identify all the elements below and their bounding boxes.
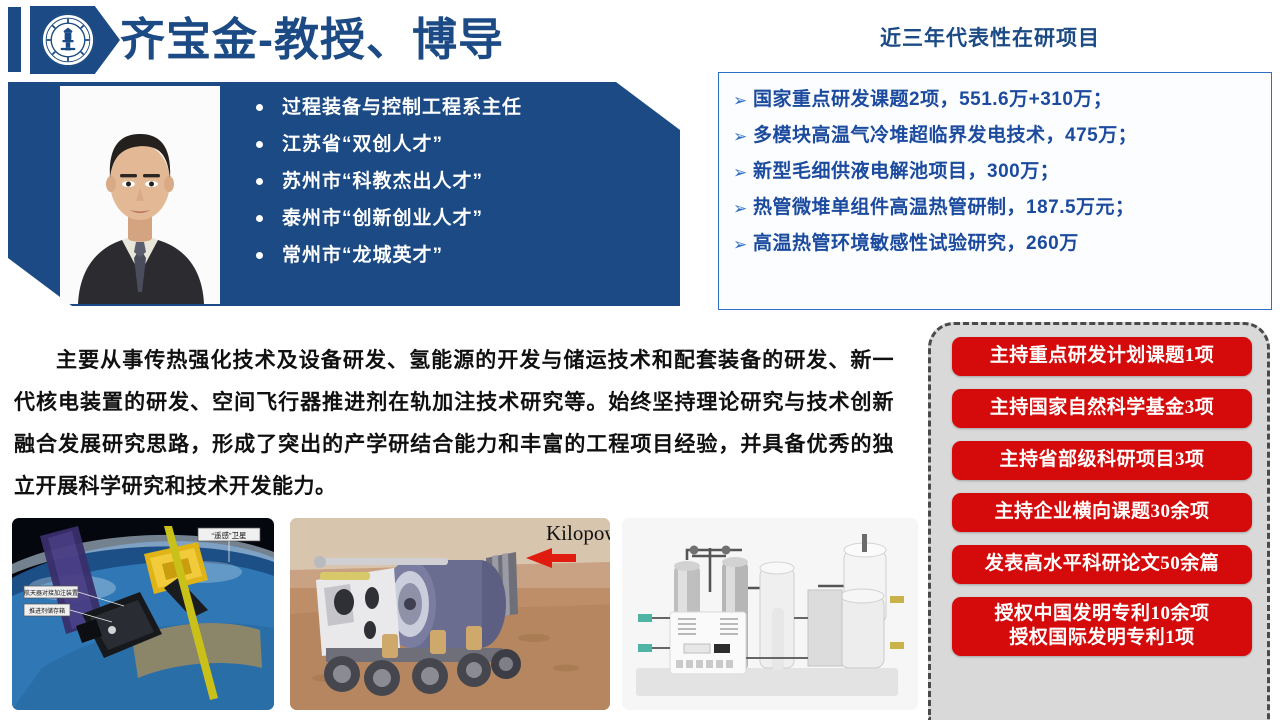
slide-root: 1896 齐宝金-教授、博导 近三年代表性在研项目 xyxy=(0,0,1280,720)
credential-label: 江苏省“双创人才” xyxy=(282,134,443,155)
equipment-illustration xyxy=(622,518,918,710)
mars-rover-kilopower-image: Kilopower xyxy=(290,518,610,710)
badge-line-1: 授权中国发明专利10余项 xyxy=(994,603,1209,624)
status-badge: 主持省部级科研项目3项 xyxy=(952,441,1252,480)
list-item: 江苏省“双创人才” xyxy=(252,133,652,156)
list-item: ➢国家重点研发课题2项，551.6万+310万； xyxy=(733,89,1271,111)
status-badge: 主持企业横向课题30余项 xyxy=(952,493,1252,532)
list-item: ➢多模块高温气冷堆超临界发电技术，475万； xyxy=(733,125,1271,147)
rover-illustration: Kilopower xyxy=(290,518,610,710)
status-badge: 授权中国发明专利10余项 授权国际发明专利1项 xyxy=(952,597,1252,656)
logo-shield-shape: 1896 xyxy=(30,6,120,74)
satellite-illustration: “遥感”卫星 航天器对接加注装置 推进剂储存箱 xyxy=(12,518,274,710)
svg-text:推进剂储存箱: 推进剂储存箱 xyxy=(29,607,65,615)
status-badge: 发表高水平科研论文50余篇 xyxy=(952,545,1252,584)
badge-line-2: 授权国际发明专利1项 xyxy=(952,626,1252,650)
list-item: ➢热管微堆单组件高温热管研制，187.5万元； xyxy=(733,197,1271,219)
bullet-dot-icon xyxy=(256,178,263,185)
satellite-refueling-image: “遥感”卫星 航天器对接加注装置 推进剂储存箱 xyxy=(12,518,274,710)
header-accent-bar xyxy=(8,7,21,72)
svg-text:航天器对接加注装置: 航天器对接加注装置 xyxy=(24,589,78,597)
projects-list: ➢国家重点研发课题2项，551.6万+310万； ➢多模块高温气冷堆超临界发电技… xyxy=(719,73,1271,255)
arrow-bullet-icon: ➢ xyxy=(733,234,748,256)
list-item: ➢高温热管环境敏感性试验研究，260万 xyxy=(733,233,1271,255)
credential-label: 过程装备与控制工程系主任 xyxy=(282,97,522,118)
project-label: 多模块高温气冷堆超临界发电技术，475万； xyxy=(753,125,1137,146)
avatar xyxy=(60,86,220,304)
slide-header: 1896 齐宝金-教授、博导 近三年代表性在研项目 xyxy=(0,0,1280,80)
bullet-dot-icon xyxy=(256,215,263,222)
status-badge: 主持国家自然科学基金3项 xyxy=(952,389,1252,428)
credentials-list: 过程装备与控制工程系主任 江苏省“双创人才” 苏州市“科教杰出人才” 泰州市“创… xyxy=(252,96,652,281)
arrow-bullet-icon: ➢ xyxy=(733,162,748,184)
svg-text:“遥感”卫星: “遥感”卫星 xyxy=(212,530,247,540)
biography-paragraph: 主要从事传热强化技术及设备研发、氢能源的开发与储运技术和配套装备的研发、新一代核… xyxy=(14,340,894,508)
bullet-dot-icon xyxy=(256,252,263,259)
projects-panel: ➢国家重点研发课题2项，551.6万+310万； ➢多模块高温气冷堆超临界发电技… xyxy=(718,72,1272,310)
svg-text:Kilopower: Kilopower xyxy=(546,521,610,545)
project-label: 新型毛细供液电解池项目，300万； xyxy=(753,161,1059,182)
achievements-list: 主持重点研发计划课题1项 主持国家自然科学基金3项 主持省部级科研项目3项 主持… xyxy=(931,325,1273,669)
projects-section-heading: 近三年代表性在研项目 xyxy=(700,22,1280,52)
credential-label: 常州市“龙城英才” xyxy=(282,245,443,266)
achievements-panel: 主持重点研发计划课题1项 主持国家自然科学基金3项 主持省部级科研项目3项 主持… xyxy=(928,322,1270,720)
arrow-bullet-icon: ➢ xyxy=(733,90,748,112)
list-item: 苏州市“科教杰出人才” xyxy=(252,170,652,193)
list-item: 泰州市“创新创业人才” xyxy=(252,207,652,230)
figure-strip: “遥感”卫星 航天器对接加注装置 推进剂储存箱 xyxy=(12,518,917,710)
credential-label: 苏州市“科教杰出人才” xyxy=(282,171,483,192)
page-title: 齐宝金-教授、博导 xyxy=(120,8,504,72)
svg-text:1896: 1896 xyxy=(65,49,71,52)
list-item: 常州市“龙城英才” xyxy=(252,244,652,267)
university-seal-icon: 1896 xyxy=(40,12,96,68)
project-label: 国家重点研发课题2项，551.6万+310万； xyxy=(753,89,1112,110)
list-item: 过程装备与控制工程系主任 xyxy=(252,96,652,119)
arrow-bullet-icon: ➢ xyxy=(733,126,748,148)
industrial-equipment-image xyxy=(622,518,918,710)
bullet-dot-icon xyxy=(256,104,263,111)
credential-label: 泰州市“创新创业人才” xyxy=(282,208,483,229)
project-label: 热管微堆单组件高温热管研制，187.5万元； xyxy=(753,197,1135,218)
bullet-dot-icon xyxy=(256,141,263,148)
project-label: 高温热管环境敏感性试验研究，260万 xyxy=(753,233,1079,254)
status-badge: 主持重点研发计划课题1项 xyxy=(952,337,1252,376)
portrait-photo xyxy=(60,86,220,304)
arrow-bullet-icon: ➢ xyxy=(733,198,748,220)
list-item: ➢新型毛细供液电解池项目，300万； xyxy=(733,161,1271,183)
